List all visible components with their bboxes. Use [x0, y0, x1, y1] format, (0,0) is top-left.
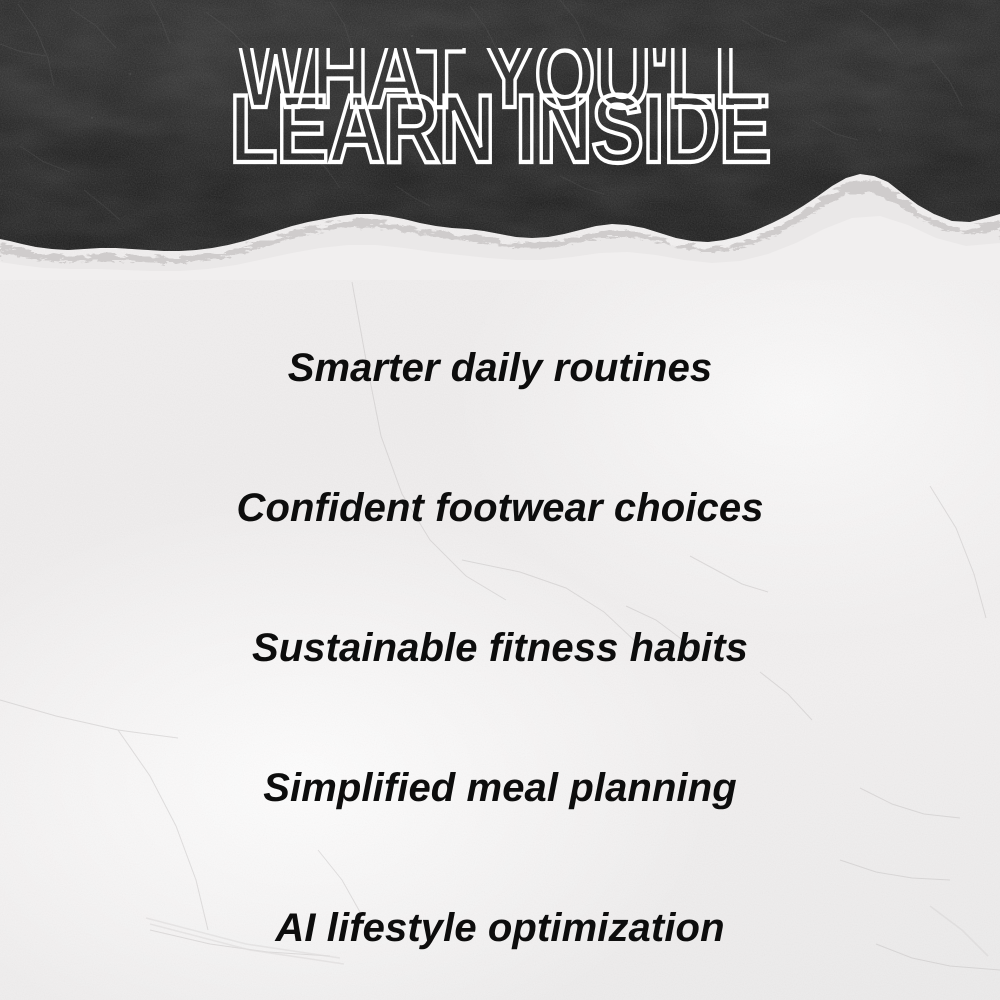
list-item-label: AI lifestyle optimization: [275, 906, 724, 951]
learn-inside-list: Smarter daily routines Confident footwea…: [0, 298, 1000, 998]
list-item: Simplified meal planning: [0, 718, 1000, 858]
list-item: Confident footwear choices: [0, 438, 1000, 578]
slide-canvas: WHAT YOU'LL LEARN INSIDE Smarter daily r…: [0, 0, 1000, 1000]
list-item-label: Confident footwear choices: [236, 486, 763, 531]
list-item: Sustainable fitness habits: [0, 578, 1000, 718]
list-item: Smarter daily routines: [0, 298, 1000, 438]
list-item: AI lifestyle optimization: [0, 858, 1000, 998]
list-item-label: Simplified meal planning: [263, 766, 737, 811]
list-item-label: Smarter daily routines: [288, 346, 713, 391]
list-item-label: Sustainable fitness habits: [252, 626, 748, 671]
